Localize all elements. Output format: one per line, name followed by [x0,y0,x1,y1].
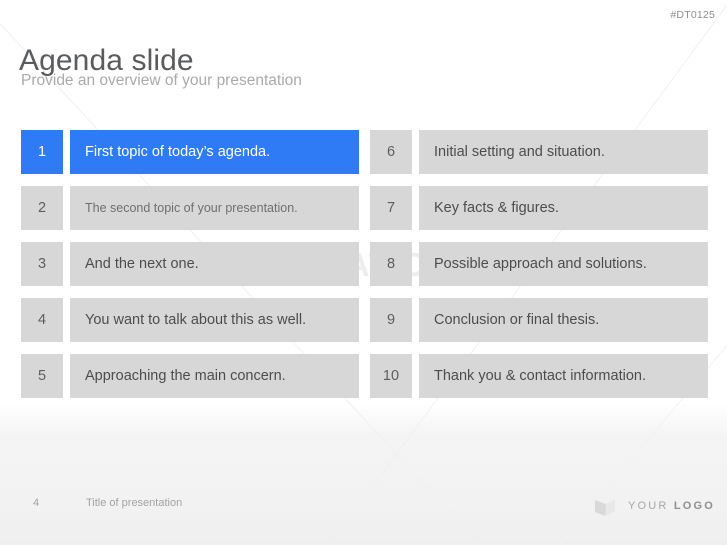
agenda-item-10[interactable]: 10 Thank you & contact information. [370,354,708,398]
slide-canvas: PRESENTATIONLOAD #DT0125 Agenda slide Pr… [0,0,727,545]
agenda-item-6[interactable]: 6 Initial setting and situation. [370,130,708,174]
logo-text-light: YOUR [628,500,674,512]
agenda-label: Key facts & figures. [419,186,708,230]
cube-icon [592,493,618,519]
agenda-label: Thank you & contact information. [419,354,708,398]
agenda-number: 10 [370,354,412,398]
agenda-item-8[interactable]: 8 Possible approach and solutions. [370,242,708,286]
agenda-item-7[interactable]: 7 Key facts & figures. [370,186,708,230]
agenda-number: 2 [21,186,63,230]
template-code-tag: #DT0125 [670,9,715,21]
page-subtitle: Provide an overview of your presentation [21,70,302,92]
agenda-item-2[interactable]: 2 The second topic of your presentation. [21,186,359,230]
agenda-label: Possible approach and solutions. [419,242,708,286]
agenda-number: 7 [370,186,412,230]
agenda-number: 1 [21,130,63,174]
agenda-number: 6 [370,130,412,174]
agenda-label: Initial setting and situation. [419,130,708,174]
agenda-label: You want to talk about this as well. [70,298,359,342]
agenda-label: The second topic of your presentation. [70,186,359,230]
agenda-item-1[interactable]: 1 First topic of today’s agenda. [21,130,359,174]
agenda-label: First topic of today’s agenda. [70,130,359,174]
logo-text: YOUR LOGO [628,500,715,512]
agenda-number: 4 [21,298,63,342]
agenda-number: 9 [370,298,412,342]
agenda-label: Approaching the main concern. [70,354,359,398]
agenda-label: And the next one. [70,242,359,286]
agenda-number: 3 [21,242,63,286]
logo: YOUR LOGO [592,492,715,520]
agenda-label: Conclusion or final thesis. [419,298,708,342]
agenda-item-5[interactable]: 5 Approaching the main concern. [21,354,359,398]
agenda-column-right: 6 Initial setting and situation. 7 Key f… [370,130,708,410]
footer-presentation-title: Title of presentation [86,497,182,509]
agenda-item-9[interactable]: 9 Conclusion or final thesis. [370,298,708,342]
agenda-number: 5 [21,354,63,398]
agenda-number: 8 [370,242,412,286]
agenda-item-4[interactable]: 4 You want to talk about this as well. [21,298,359,342]
footer-page-number: 4 [33,497,39,509]
agenda-item-3[interactable]: 3 And the next one. [21,242,359,286]
agenda-column-left: 1 First topic of today’s agenda. 2 The s… [21,130,359,410]
logo-text-bold: LOGO [674,500,715,512]
